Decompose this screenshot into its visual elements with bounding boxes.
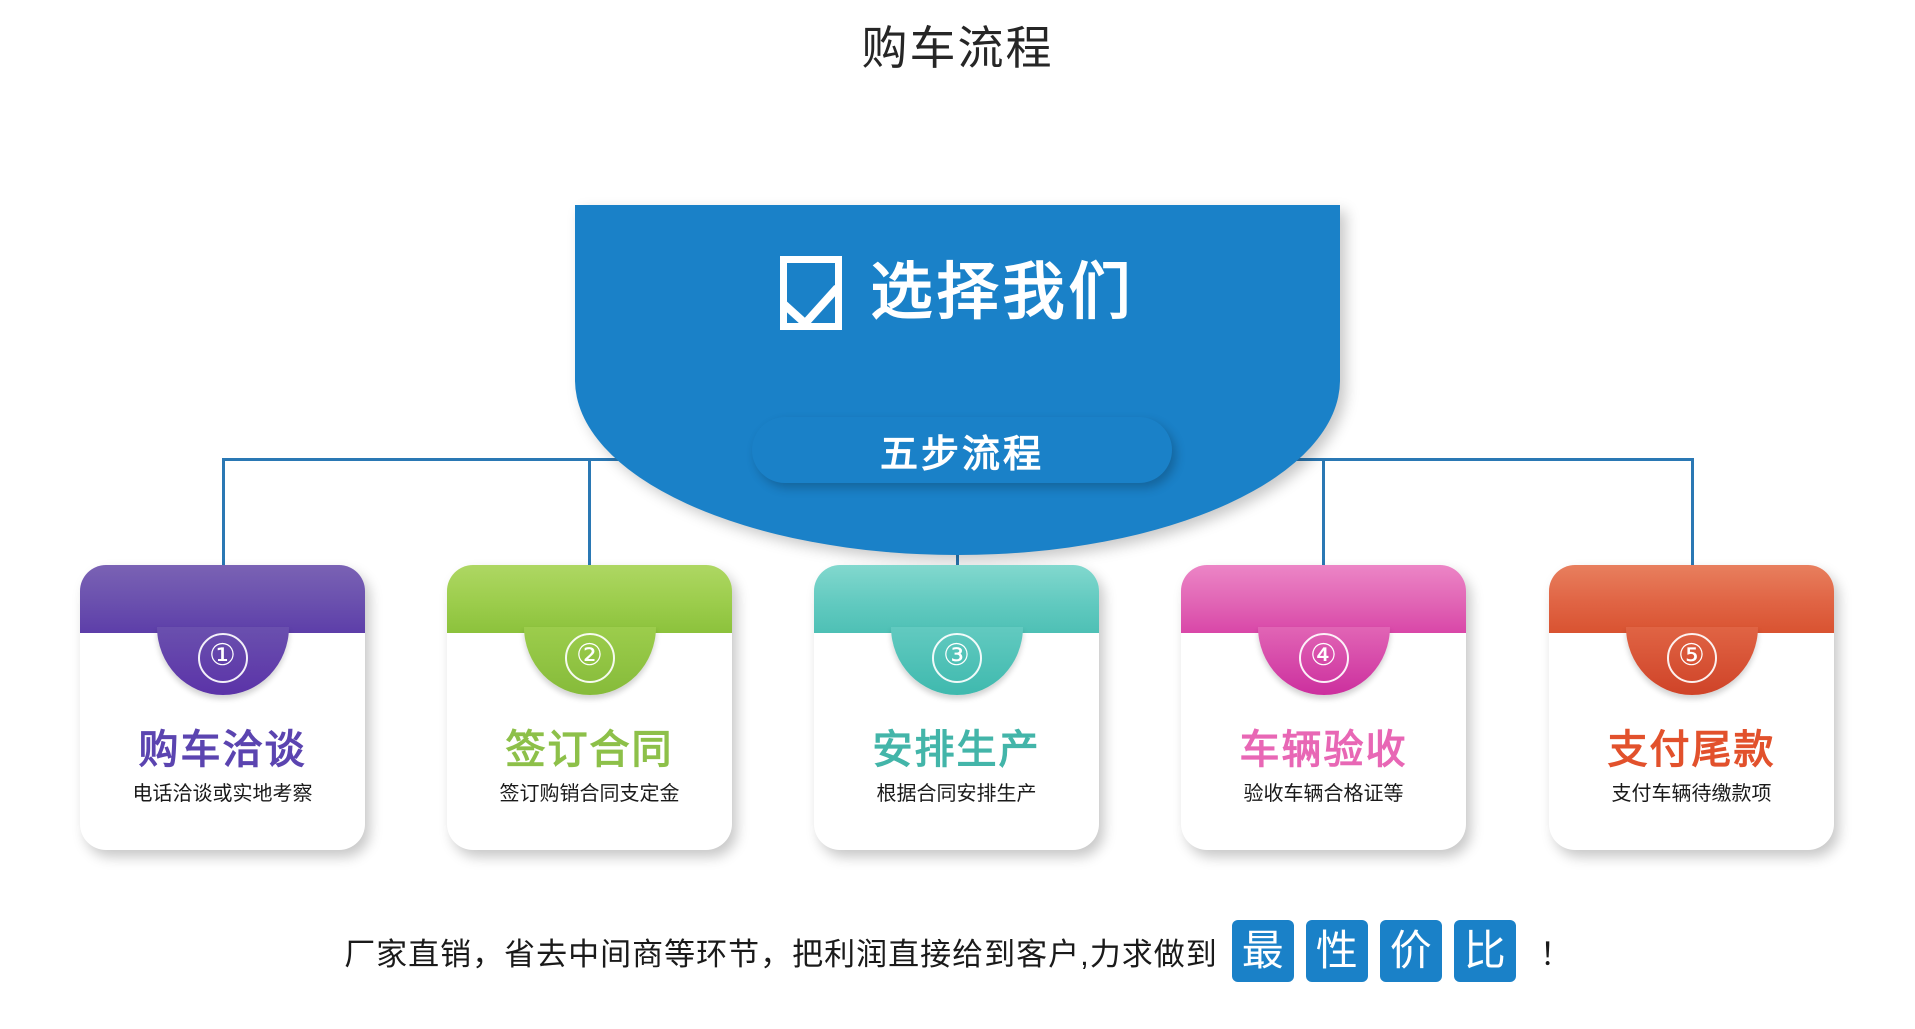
step-number-4: ④ (1299, 633, 1349, 683)
footer-lead-text: 厂家直销，省去中间商等环节，把利润直接给到客户,力求做到 (344, 929, 1218, 974)
step-title-2: 签订合同 (447, 717, 732, 775)
footer-highlight-1: 最 (1232, 920, 1294, 982)
step-tab-3 (814, 565, 1099, 633)
step-number-5: ⑤ (1667, 633, 1717, 683)
step-card-3[interactable]: ③ 安排生产 根据合同安排生产 (814, 565, 1099, 850)
step-tab-5 (1549, 565, 1834, 633)
step-subtitle-3: 根据合同安排生产 (814, 777, 1099, 806)
step-subtitle-4: 验收车辆合格证等 (1181, 777, 1466, 806)
step-number-2: ② (565, 633, 615, 683)
step-title-5: 支付尾款 (1549, 717, 1834, 775)
choose-us-banner: 选择我们 (575, 205, 1340, 380)
step-subtitle-2: 签订购销合同支定金 (447, 777, 732, 806)
footer-tagline: 厂家直销，省去中间商等环节，把利润直接给到客户,力求做到 最 性 价 比 ！ (0, 920, 1915, 982)
step-card-1[interactable]: ① 购车洽谈 电话洽谈或实地考察 (80, 565, 365, 850)
footer-highlight-4: 比 (1454, 920, 1516, 982)
footer-highlight-3: 价 (1380, 920, 1442, 982)
slide-canvas: 购车流程 选择我们 五步流程 ① 购车洽谈 电话洽谈或实地考察 ② 签订合同 签… (0, 0, 1915, 1029)
step-number-3: ③ (932, 633, 982, 683)
step-tab-2 (447, 565, 732, 633)
connector-drop-step-5 (1691, 458, 1694, 573)
connector-drop-step-2 (588, 458, 591, 573)
banner-label: 选择我们 (870, 262, 1134, 324)
footer-exclamation: ！ (1540, 929, 1571, 974)
footer-highlight-2: 性 (1306, 920, 1368, 982)
step-tab-1 (80, 565, 365, 633)
checkbox-checked-icon (780, 256, 842, 330)
step-number-1: ① (198, 633, 248, 683)
step-card-2[interactable]: ② 签订合同 签订购销合同支定金 (447, 565, 732, 850)
connector-drop-step-1 (222, 458, 225, 573)
step-title-1: 购车洽谈 (80, 717, 365, 775)
footer-highlight-group: 最 性 价 比 (1232, 920, 1516, 982)
step-tab-4 (1181, 565, 1466, 633)
hub-label: 五步流程 (880, 423, 1044, 478)
step-card-5[interactable]: ⑤ 支付尾款 支付车辆待缴款项 (1549, 565, 1834, 850)
page-title: 购车流程 (0, 12, 1915, 78)
step-card-4[interactable]: ④ 车辆验收 验收车辆合格证等 (1181, 565, 1466, 850)
step-subtitle-1: 电话洽谈或实地考察 (80, 777, 365, 806)
connector-drop-step-4 (1322, 458, 1325, 573)
step-subtitle-5: 支付车辆待缴款项 (1549, 777, 1834, 806)
step-title-4: 车辆验收 (1181, 717, 1466, 775)
step-title-3: 安排生产 (814, 717, 1099, 775)
five-step-hub[interactable]: 五步流程 (752, 417, 1172, 483)
